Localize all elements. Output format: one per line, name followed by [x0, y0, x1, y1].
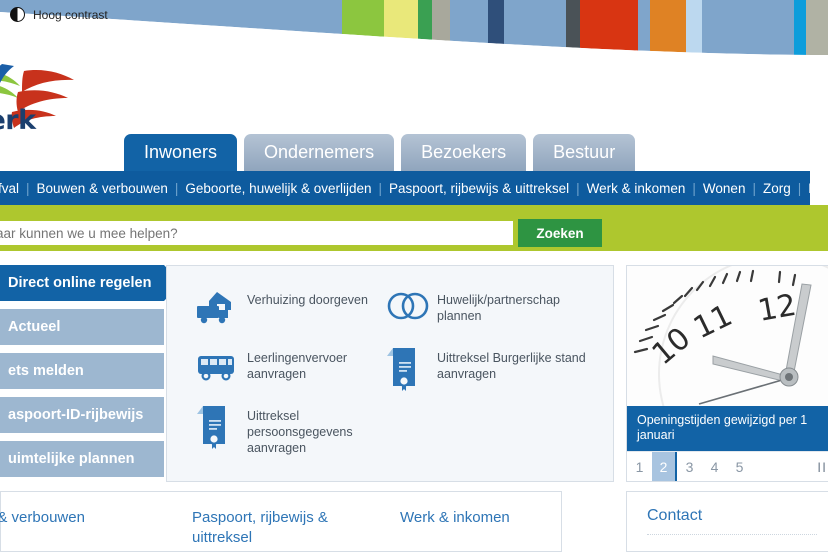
- sidebar-item[interactable]: uimtelijke plannen: [0, 441, 164, 477]
- pager-page-1[interactable]: 1: [627, 452, 652, 483]
- online-services-panel: Verhuizing doorgevenLeerlingenvervoer aa…: [166, 265, 614, 482]
- subnav-item[interactable]: Afval: [0, 181, 26, 196]
- service-link[interactable]: Huwelijk/partnerschap plannen: [385, 288, 600, 328]
- services-column-1: Verhuizing doorgevenLeerlingenvervoer aa…: [195, 288, 385, 474]
- sidebar-item[interactable]: Direct online regelen: [0, 265, 164, 301]
- bus-icon: [195, 346, 235, 386]
- quick-link-1[interactable]: ouwen & verbouwen: [0, 508, 129, 528]
- tab-ondernemers[interactable]: Ondernemers: [244, 134, 394, 171]
- subnav-item[interactable]: Geboorte, huwelijk & overlijden: [178, 181, 378, 196]
- service-label: Huwelijk/partnerschap plannen: [437, 288, 600, 324]
- pause-button[interactable]: II: [817, 459, 827, 475]
- tab-bestuur[interactable]: Bestuur: [533, 134, 635, 171]
- contact-panel: Contact: [626, 491, 828, 552]
- contrast-icon: [10, 7, 25, 22]
- rings-icon: [385, 288, 425, 328]
- subnav-item[interactable]: Zorg: [756, 181, 798, 196]
- service-label: Uittreksel Burgerlijke stand aanvragen: [437, 346, 600, 382]
- service-link[interactable]: Uittreksel Burgerlijke stand aanvragen: [385, 346, 600, 386]
- service-label: Leerlingenvervoer aanvragen: [247, 346, 385, 382]
- quick-links-panel: ouwen & verbouwen Paspoort, rijbewijs & …: [0, 491, 562, 552]
- pager-page-3[interactable]: 3: [677, 452, 702, 483]
- subnav-item[interactable]: Bouwen & verbouwen: [30, 181, 175, 196]
- certificate-document-icon: [385, 346, 425, 386]
- sidebar-item[interactable]: Actueel: [0, 309, 164, 345]
- top-banner: [0, 0, 828, 55]
- contact-divider: [647, 534, 817, 535]
- service-label: Uittreksel persoonsgegevens aanvragen: [247, 404, 385, 456]
- moving-truck-icon: [195, 288, 235, 328]
- analog-clock-photo: 10 11 12: [627, 266, 828, 406]
- subnav-item[interactable]: Werk & inkomen: [580, 181, 693, 196]
- contact-title: Contact: [647, 507, 702, 525]
- tab-bezoekers[interactable]: Bezoekers: [401, 134, 526, 171]
- site-logo[interactable]: te jkerk: [0, 48, 122, 138]
- services-column-2: Huwelijk/partnerschap plannenUittreksel …: [385, 288, 600, 404]
- subnav-item[interactable]: Wonen: [696, 181, 753, 196]
- logo-text-main: jkerk: [0, 105, 36, 136]
- main-navigation-tabs[interactable]: InwonersOndernemersBezoekersBestuur: [124, 134, 635, 171]
- carousel-pager[interactable]: 12345II: [627, 451, 828, 482]
- service-label: Verhuizing doorgeven: [247, 288, 368, 308]
- news-carousel[interactable]: 10 11 12 Openingstijden gewijzigd per 1 …: [626, 265, 828, 482]
- page-content: Direct online regelenActueelets meldenas…: [0, 251, 828, 552]
- sub-navigation-bar[interactable]: Afval|Bouwen & verbouwen|Geboorte, huwel…: [0, 171, 810, 205]
- search-button[interactable]: Zoeken: [518, 219, 602, 247]
- tab-inwoners[interactable]: Inwoners: [124, 134, 237, 171]
- search-input[interactable]: [0, 221, 513, 245]
- banner-white-curve: [0, 0, 828, 55]
- sidebar-item[interactable]: aspoort-ID-rijbewijs: [0, 397, 164, 433]
- subnav-item[interactable]: Meer: [801, 181, 810, 196]
- sidebar-item[interactable]: ets melden: [0, 353, 164, 389]
- high-contrast-label: Hoog contrast: [33, 8, 108, 22]
- svg-text:12: 12: [755, 288, 799, 329]
- service-link[interactable]: Uittreksel persoonsgegevens aanvragen: [195, 404, 385, 456]
- pager-page-4[interactable]: 4: [702, 452, 727, 483]
- news-caption[interactable]: Openingstijden gewijzigd per 1 januari: [627, 406, 828, 451]
- high-contrast-toggle[interactable]: Hoog contrast: [10, 7, 108, 22]
- quick-link-2[interactable]: Paspoort, rijbewijs & uittreksel: [192, 508, 352, 548]
- subnav-item[interactable]: Paspoort, rijbewijs & uittreksel: [382, 181, 576, 196]
- pager-page-2[interactable]: 2: [652, 452, 677, 483]
- news-image: 10 11 12: [627, 266, 828, 406]
- quick-link-3[interactable]: Werk & inkomen: [400, 508, 580, 528]
- certificate-document-icon: [195, 404, 235, 444]
- sidebar-menu[interactable]: Direct online regelenActueelets meldenas…: [0, 265, 164, 485]
- pager-page-5[interactable]: 5: [727, 452, 752, 483]
- service-link[interactable]: Verhuizing doorgeven: [195, 288, 385, 328]
- service-link[interactable]: Leerlingenvervoer aanvragen: [195, 346, 385, 386]
